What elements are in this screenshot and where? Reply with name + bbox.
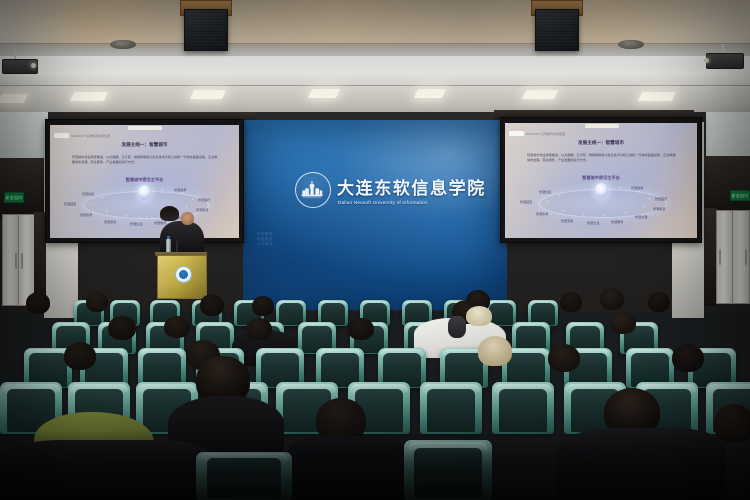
panel-light <box>308 89 340 98</box>
slide-logo-tab <box>54 133 69 138</box>
audience-person <box>86 292 108 312</box>
audience-person <box>600 288 624 310</box>
hanging-speaker <box>176 0 234 50</box>
audience-person <box>560 292 582 312</box>
wall-pillar-lower <box>44 258 78 318</box>
ceiling-round-speaker <box>618 40 644 49</box>
glowing-orb-icon <box>595 183 608 198</box>
exit-sign: 安全出口 <box>4 192 24 203</box>
ceiling-projector <box>2 50 46 80</box>
slide-top-tab <box>585 124 619 128</box>
audience-person <box>200 294 224 316</box>
slide-diagram-label: 智慧水务 <box>80 212 92 217</box>
backdrop-institution-name-cn: 大连东软信息学院 <box>337 174 486 199</box>
audience-person-head <box>108 316 136 340</box>
backdrop-institution-name-en: Dalian Neusoft University of Information <box>338 200 428 205</box>
slide-top-tab <box>128 126 162 130</box>
podium <box>157 255 207 299</box>
ceiling-round-speaker <box>110 40 136 49</box>
slide-diagram-label: 智慧生活 <box>587 220 599 225</box>
hanging-speaker <box>527 0 585 50</box>
wall-pillar-lower <box>672 256 704 318</box>
audience-person-head <box>64 342 96 370</box>
wall-glass-panel <box>0 112 48 160</box>
panel-light <box>0 94 28 103</box>
slide-diagram-label: 智慧医疗 <box>198 197 210 202</box>
slide-subtitle: 智慧城市建设主平台 <box>50 177 239 183</box>
foreground-shadow <box>0 430 750 500</box>
ceiling-seam <box>0 85 750 86</box>
door-reveal <box>704 208 716 306</box>
audience-person-head-blond <box>478 336 512 366</box>
slide-diagram-label: 智慧交通 <box>635 214 647 219</box>
audience-person <box>648 292 670 312</box>
slide-diagram-label: 智慧政务 <box>174 187 186 192</box>
microphone-head <box>173 236 179 241</box>
exit-sign: 安全出口 <box>730 190 750 201</box>
ceiling-projector <box>700 44 748 78</box>
panel-light <box>638 92 676 101</box>
panel-light <box>522 90 558 99</box>
audience-person-head <box>548 344 580 372</box>
wall-glass-panel <box>706 112 750 162</box>
audience-person-head <box>348 318 374 340</box>
slide-diagram-label: 智慧园区 <box>64 201 76 206</box>
slide-diagram-label: 智慧医疗 <box>655 196 667 201</box>
slide-diagram-label: 智慧政务 <box>631 185 643 190</box>
backdrop-watermark: 东软教育 科技集团 人才培养 <box>257 232 273 247</box>
slide-diagram-label: 智慧水务 <box>536 211 548 216</box>
slide-diagram-label: 智慧园区 <box>520 199 532 204</box>
slide-body-text: 智慧城市建设持续推进，以大数据、云计算、物联网等新兴信息技术为核心的新一代城市基… <box>72 155 218 166</box>
stage-backdrop: 东软教育 科技集团 人才培养 大连东软信息学院 Da <box>243 120 507 310</box>
slide-logo-text: NEUSOFT 东软教育科技集团 <box>71 134 110 138</box>
slide-diagram-label: 智慧教育 <box>611 219 623 224</box>
audience-person-head <box>610 312 636 334</box>
glowing-orb-icon <box>138 185 151 200</box>
ceiling-light-cove <box>0 56 750 86</box>
panel-light <box>70 92 108 101</box>
audience-person <box>26 292 50 314</box>
panel-light <box>414 89 446 98</box>
right-projection-screen: NEUSOFT 东软教育科技集团 发展主线一：智慧城市 智慧城市建设持续推进，以… <box>500 117 702 243</box>
auditorium-seat <box>420 382 482 434</box>
lanyard <box>448 316 466 338</box>
university-crest-icon <box>295 172 331 208</box>
slide-logo-text: NEUSOFT 东软教育科技集团 <box>526 132 565 136</box>
audience-person-head <box>246 318 272 340</box>
slide-body-text: 智慧城市建设持续推进，以大数据、云计算、物联网等新兴信息技术为核心的新一代城市基… <box>527 153 677 164</box>
panel-light <box>190 90 226 99</box>
slide-title: 发展主线一：智慧城市 <box>50 142 239 148</box>
slide-diagram-label: 智慧能源 <box>653 206 665 211</box>
slide-diagram-label: 智慧生活 <box>130 221 142 226</box>
podium-crest-icon <box>175 266 192 283</box>
audience-person <box>252 296 274 316</box>
slide-subtitle: 智慧城市建设主平台 <box>505 175 697 181</box>
audience-person-head <box>164 316 190 338</box>
slide-title: 发展主线一：智慧城市 <box>505 140 697 146</box>
slide-diagram-label: 智慧安防 <box>104 219 116 224</box>
slide-diagram-label: 智慧社区 <box>539 189 551 194</box>
slide-surface: NEUSOFT 东软教育科技集团 发展主线一：智慧城市 智慧城市建设持续推进，以… <box>505 123 697 238</box>
backdrop-vignette <box>243 120 507 310</box>
slide-diagram-label: 智慧安防 <box>561 218 573 223</box>
audience-person-head-blond <box>466 306 492 326</box>
auditorium-door[interactable] <box>732 210 750 304</box>
auditorium-seat <box>492 382 554 434</box>
audience-person-head <box>672 344 704 372</box>
slide-diagram-label: 智慧社区 <box>82 191 94 196</box>
lecture-hall-photo: 安全出口 安全出口 东软教育 科技集团 人才培养 <box>0 0 750 500</box>
slide-logo-tab <box>509 131 524 136</box>
